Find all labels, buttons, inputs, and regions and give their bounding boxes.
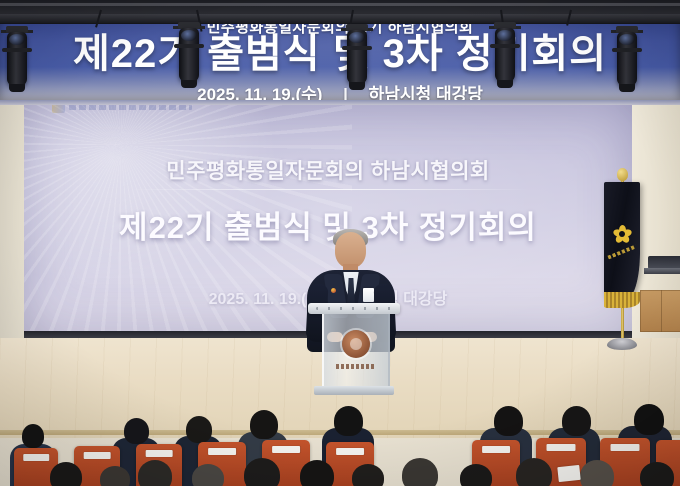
- seat-name-card: [611, 444, 640, 451]
- stage-light-lens: [619, 34, 635, 45]
- stage-light-knob: [612, 48, 642, 52]
- name-badge: [363, 288, 374, 302]
- podium-grille: [316, 307, 392, 310]
- seat-name-card: [208, 448, 236, 455]
- stage-light-knob: [174, 44, 204, 48]
- stage-light-base: [349, 82, 365, 90]
- stage-light-lens: [181, 30, 197, 41]
- podium-top: [308, 303, 400, 314]
- lapel-pin: [331, 288, 336, 293]
- cardboard-box: [640, 290, 680, 332]
- seat-name-card: [272, 446, 300, 453]
- audience-person-head: [186, 416, 212, 443]
- mugunghwa-emblem: [612, 224, 632, 244]
- screen-divider: [127, 189, 529, 190]
- stage-light-knob: [490, 44, 520, 48]
- stage-light-base: [9, 84, 25, 92]
- audience-person-head: [640, 462, 674, 486]
- audience-person-head: [402, 458, 438, 486]
- audience-person-head: [50, 462, 82, 486]
- podium-base: [314, 386, 394, 395]
- banner-headline: 제22기 출범식 및 3차 정기회의: [0, 34, 680, 74]
- seat-name-card: [336, 448, 364, 455]
- audience-person-head: [334, 406, 363, 436]
- flag-finial: [617, 168, 628, 181]
- audience-person-head: [634, 404, 664, 435]
- speaker-head: [335, 232, 366, 268]
- audience-person-head: [244, 458, 280, 486]
- audience-person-head: [192, 464, 224, 486]
- lighting-truss: [0, 14, 680, 23]
- audience-person-head: [494, 406, 523, 436]
- audience-handout: [557, 465, 580, 482]
- ceremonial-flag: [604, 182, 640, 300]
- podium: [318, 303, 390, 395]
- seat-name-card: [482, 446, 510, 453]
- audience-person-head: [300, 460, 334, 486]
- flag-fringe: [604, 292, 640, 308]
- rear-table: [644, 268, 680, 274]
- audience-person-head: [138, 460, 172, 486]
- banner-bottom-edge: [0, 100, 680, 105]
- stage-light-lens: [349, 32, 365, 43]
- stage-light-base: [619, 84, 635, 92]
- audience-person-head: [124, 418, 149, 444]
- audience-person-head: [516, 458, 552, 486]
- seat-name-card: [84, 452, 111, 459]
- stage-light-lens: [9, 34, 25, 45]
- seat-name-card: [547, 444, 576, 451]
- podium-body: [322, 314, 390, 386]
- hanam-city-emblem: [342, 330, 370, 358]
- stage-light-knob: [342, 46, 372, 50]
- stage-light-knob: [2, 48, 32, 52]
- stage-light-lens: [497, 30, 513, 41]
- auditorium-photo: 민주평화통일자문회의 경기 하남시협의회 제22기 출범식 및 3차 정기회의 …: [0, 0, 680, 486]
- audience-person-head: [352, 464, 384, 486]
- flag-stand: [607, 338, 637, 350]
- audience-person-head: [250, 410, 278, 439]
- seat-name-card: [146, 450, 173, 457]
- audience-person-head: [580, 460, 614, 486]
- truss-bar: [0, 3, 680, 6]
- audience: [0, 404, 680, 486]
- audience-person-head: [460, 464, 492, 486]
- seat-name-card: [23, 454, 49, 461]
- podium-nameplate: [336, 364, 376, 369]
- flag-lettering: [607, 245, 636, 260]
- wall-strip-left: [0, 100, 24, 345]
- audience-person-head: [22, 424, 44, 448]
- audience-person-head: [100, 466, 130, 486]
- stage-light-base: [497, 80, 513, 88]
- screen-title: 민주평화통일자문회의 하남시협의회: [22, 155, 634, 185]
- stage-light-base: [181, 80, 197, 88]
- audience-person-head: [562, 406, 591, 436]
